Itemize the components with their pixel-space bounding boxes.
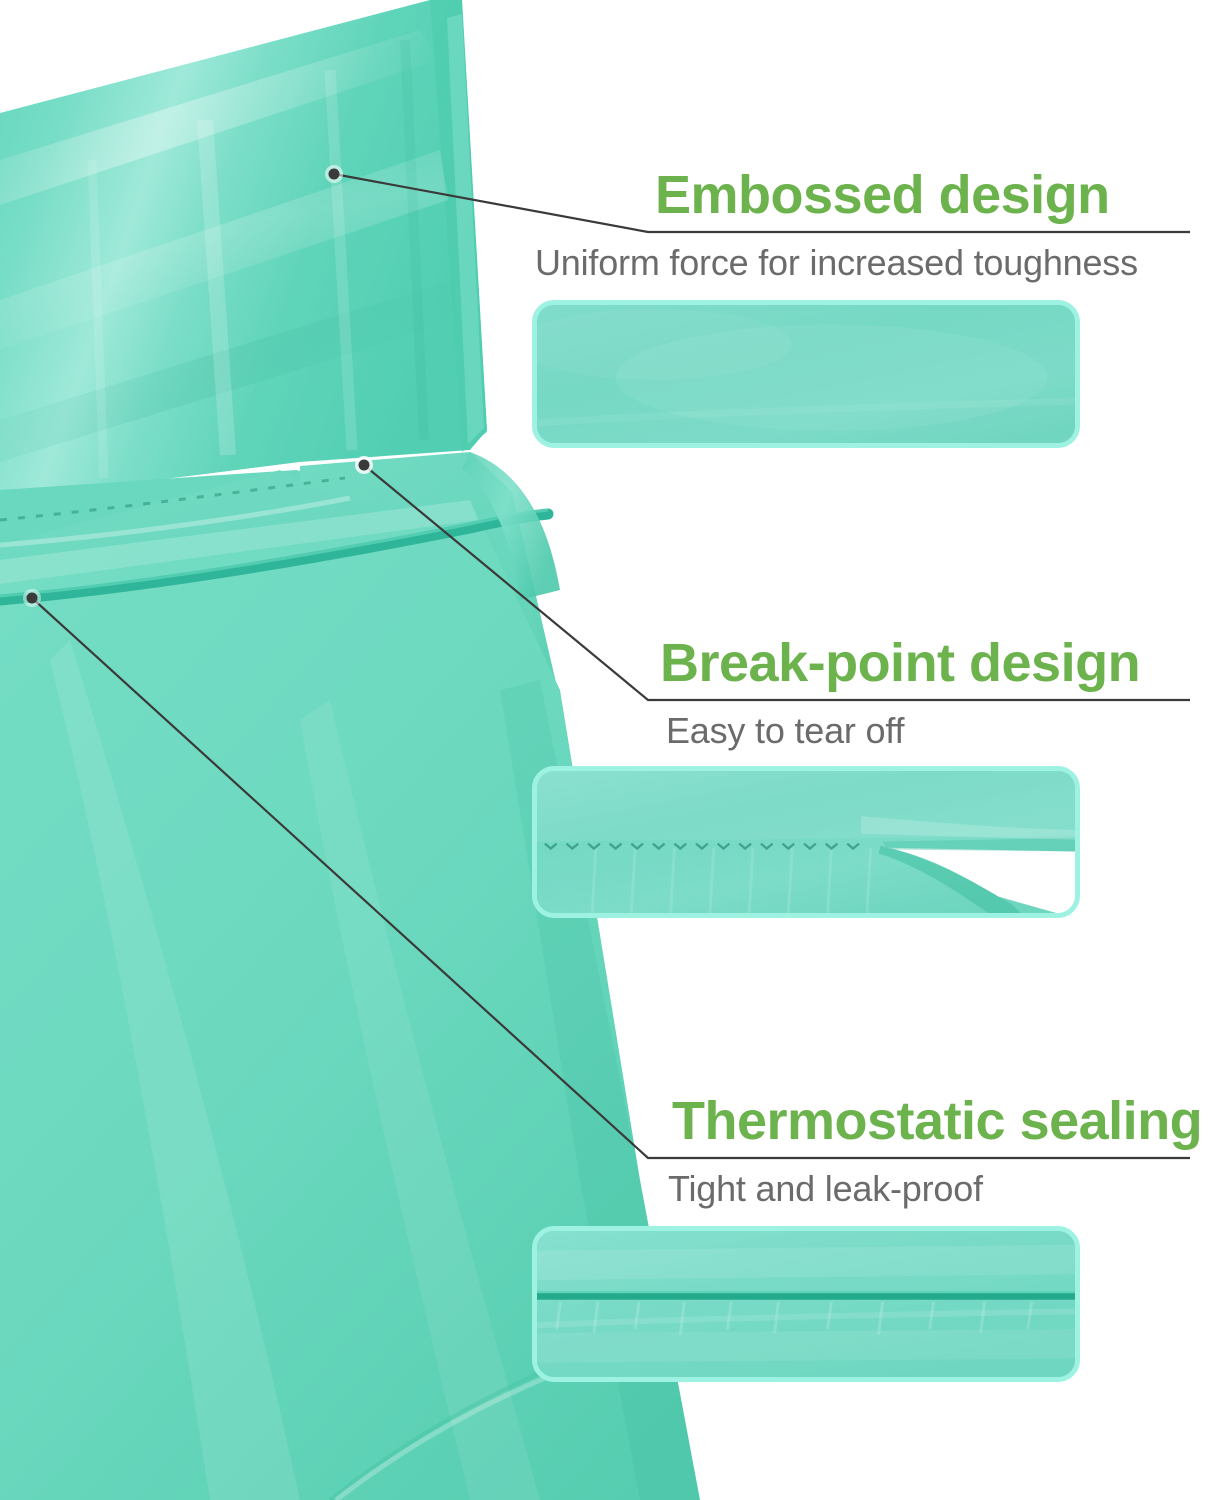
marker-break-point-halo [355,456,373,474]
perforation-line [0,478,345,520]
seal-band [537,1293,1075,1300]
bag-roll-top [0,0,487,500]
feature-subtitle-thermostatic: Tight and leak-proof [668,1171,1212,1207]
feature-subtitle-wrap-embossed: Uniform force for increased toughness [535,245,1200,281]
feature-embossed-design: Embossed design [655,168,1200,222]
marker-seal-halo [23,589,41,607]
feature-subtitle-break-point: Easy to tear off [666,713,1211,749]
feature-subtitle-wrap-break-point: Easy to tear off [666,713,1211,749]
marker-dots [23,165,373,607]
feature-heading-thermostatic: Thermostatic sealing [672,1094,1212,1148]
perforation-tear-thumbnail [532,766,1080,918]
heat-seal-line-image [537,1231,1075,1382]
feature-subtitle-wrap-thermostatic: Tight and leak-proof [668,1171,1212,1207]
marker-break-point [359,460,370,471]
bag-flap-right [462,452,560,600]
marker-seal [27,593,38,604]
embossed-surface-thumbnail [532,300,1080,448]
feature-thermostatic-sealing: Thermostatic sealing [672,1094,1212,1148]
feature-subtitle-embossed: Uniform force for increased toughness [535,245,1200,281]
heat-seal-line-thumbnail [532,1226,1080,1382]
embossed-surface-image [537,305,1075,448]
feature-break-point-design: Break-point design [660,636,1205,690]
marker-embossed-halo [325,165,343,183]
heat-seal-line [0,514,548,600]
marker-embossed [329,169,340,180]
perforation-tear-image [537,771,1075,918]
feature-heading-embossed: Embossed design [655,168,1200,222]
product-feature-infographic: Embossed design Uniform force for increa… [0,0,1212,1500]
bag-sheet-middle [0,452,560,780]
feature-heading-break-point: Break-point design [660,636,1205,690]
